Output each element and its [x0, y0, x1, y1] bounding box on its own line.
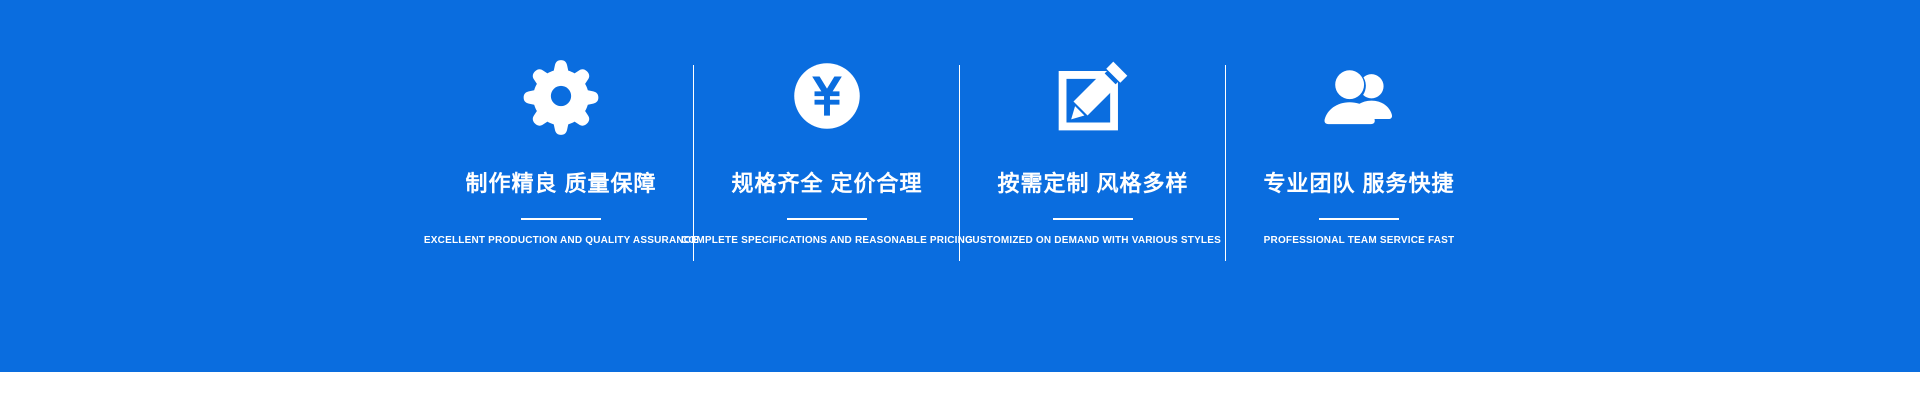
feature-divider-rule — [1319, 218, 1399, 220]
gear-icon — [522, 57, 600, 135]
feature-subtitle: COMPLETE SPECIFICATIONS AND REASONABLE P… — [681, 236, 973, 246]
feature-subtitle: PROFESSIONAL TEAM SERVICE FAST — [1264, 236, 1455, 246]
feature-divider-rule — [1053, 218, 1133, 220]
feature-title: 按需定制 风格多样 — [997, 173, 1188, 195]
team-people-icon — [1320, 57, 1398, 135]
feature-item-team[interactable]: 专业团队 服务快捷 PROFESSIONAL TEAM SERVICE FAST — [1226, 0, 1492, 372]
edit-pencil-square-icon — [1054, 57, 1132, 135]
feature-title: 规格齐全 定价合理 — [731, 173, 922, 195]
features-banner: 制作精良 质量保障 EXCELLENT PRODUCTION AND QUALI… — [0, 0, 1920, 401]
feature-item-pricing[interactable]: 规格齐全 定价合理 COMPLETE SPECIFICATIONS AND RE… — [694, 0, 960, 372]
features-row: 制作精良 质量保障 EXCELLENT PRODUCTION AND QUALI… — [0, 0, 1920, 372]
feature-subtitle: CUSTOMIZED ON DEMAND WITH VARIOUS STYLES — [965, 236, 1221, 246]
feature-title: 制作精良 质量保障 — [465, 173, 656, 195]
yen-coin-icon — [788, 57, 866, 135]
feature-title: 专业团队 服务快捷 — [1263, 173, 1454, 195]
feature-subtitle: EXCELLENT PRODUCTION AND QUALITY ASSURAN… — [424, 236, 698, 246]
feature-divider-rule — [787, 218, 867, 220]
feature-item-customization[interactable]: 按需定制 风格多样 CUSTOMIZED ON DEMAND WITH VARI… — [960, 0, 1226, 372]
feature-item-production[interactable]: 制作精良 质量保障 EXCELLENT PRODUCTION AND QUALI… — [428, 0, 694, 372]
feature-divider-rule — [521, 218, 601, 220]
